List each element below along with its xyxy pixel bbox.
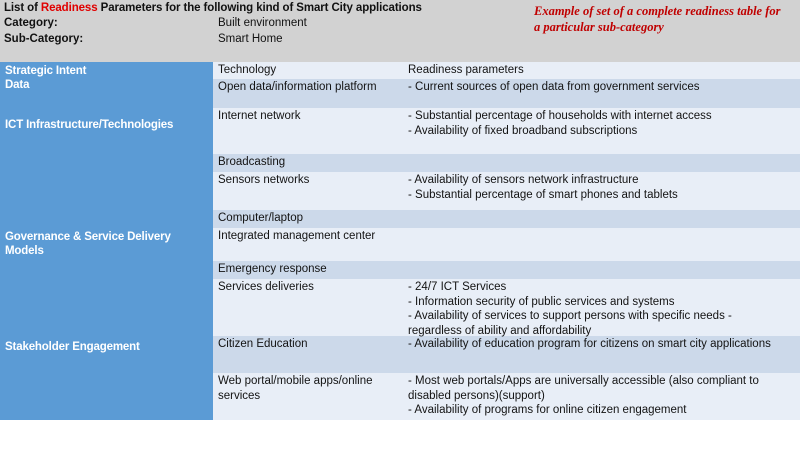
category-value: Built environment <box>218 17 307 29</box>
technology-cell[interactable]: Internet network <box>218 109 406 124</box>
parameter-item: - Availability of fixed broadband subscr… <box>408 124 786 139</box>
parameter-cell[interactable]: - Substantial percentage of households w… <box>408 109 786 138</box>
parameter-cell[interactable]: - Availability of education program for … <box>408 337 786 352</box>
category-label[interactable]: Stakeholder Engagement <box>5 340 211 354</box>
technology-cell[interactable]: Broadcasting <box>218 155 406 170</box>
category-label: Category: <box>4 17 58 29</box>
parameter-item: - 24/7 ICT Services <box>408 280 786 295</box>
page-title: List of Readiness Parameters for the fol… <box>4 2 422 14</box>
technology-cell[interactable]: Web portal/mobile apps/online services <box>218 374 406 403</box>
parameter-item: - Substantial percentage of households w… <box>408 109 786 124</box>
technology-cell[interactable]: Technology <box>218 63 406 78</box>
parameter-cell[interactable]: Readiness parameters <box>408 63 786 78</box>
category-label-line: Models <box>5 244 211 258</box>
category-label[interactable]: Governance & Service DeliveryModels <box>5 230 211 258</box>
page-title-suffix: Parameters for the following kind of Sma… <box>98 2 422 14</box>
annotation-note: Example of set of a complete readiness t… <box>534 3 784 35</box>
parameter-item: - Availability of education program for … <box>408 337 786 352</box>
parameter-cell[interactable]: - Most web portals/Apps are universally … <box>408 374 786 418</box>
category-label-line: Data <box>5 78 211 92</box>
category-label-line: Stakeholder Engagement <box>5 340 211 354</box>
page-title-highlight: Readiness <box>41 2 98 14</box>
parameter-cell[interactable]: - Availability of sensors network infras… <box>408 173 786 202</box>
parameter-cell[interactable]: - 24/7 ICT Services- Information securit… <box>408 280 786 338</box>
parameter-item: - Availability of sensors network infras… <box>408 173 786 188</box>
category-label[interactable]: Strategic IntentData <box>5 64 211 92</box>
parameter-cell[interactable]: - Current sources of open data from gove… <box>408 80 786 95</box>
parameter-item: - Substantial percentage of smart phones… <box>408 188 786 203</box>
category-label-line: Governance & Service Delivery <box>5 230 211 244</box>
slide-footer: engineering laboratory NISTNational Inst… <box>0 420 800 450</box>
category-label-line: ICT Infrastructure/Technologies <box>5 118 211 132</box>
parameter-item: - Most web portals/Apps are universally … <box>408 374 786 403</box>
technology-cell[interactable]: Services deliveries <box>218 280 406 295</box>
technology-cell[interactable]: Emergency response <box>218 262 406 277</box>
technology-cell[interactable]: Open data/information platform <box>218 80 406 95</box>
technology-cell[interactable]: Integrated management center <box>218 229 406 244</box>
technology-cell[interactable]: Sensors networks <box>218 173 406 188</box>
parameter-item: - Availability of services to support pe… <box>408 309 786 338</box>
parameter-item: - Information security of public service… <box>408 295 786 310</box>
parameter-item: Readiness parameters <box>408 63 786 78</box>
page-title-prefix: List of <box>4 2 41 14</box>
subcategory-label: Sub-Category: <box>4 33 83 45</box>
technology-cell[interactable]: Computer/laptop <box>218 211 406 226</box>
parameter-item: - Current sources of open data from gove… <box>408 80 786 95</box>
parameter-item: - Availability of programs for online ci… <box>408 403 786 418</box>
category-label-line: Strategic Intent <box>5 64 211 78</box>
readiness-table: Strategic IntentDataICT Infrastructure/T… <box>0 62 800 420</box>
subcategory-value: Smart Home <box>218 33 283 45</box>
category-label[interactable]: ICT Infrastructure/Technologies <box>5 118 211 132</box>
slide-header: List of Readiness Parameters for the fol… <box>0 0 800 62</box>
technology-cell[interactable]: Citizen Education <box>218 337 406 352</box>
slide-canvas: List of Readiness Parameters for the fol… <box>0 0 800 450</box>
